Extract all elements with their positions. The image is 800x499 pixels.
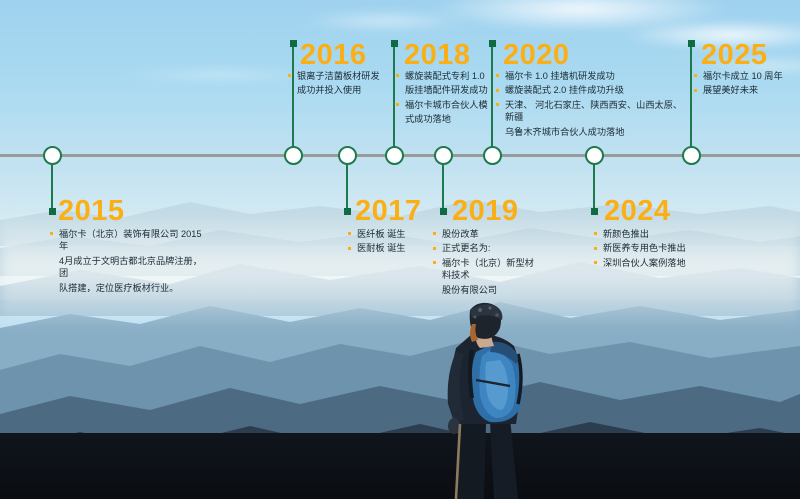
milestone-item: 福尔卡（北京）装饰有限公司 2015 年 bbox=[50, 228, 210, 253]
year-label-2025: 2025 bbox=[701, 40, 768, 70]
timeline-node-2018[interactable] bbox=[385, 146, 404, 165]
milestone-list-2024: 新颜色推出新医养专用色卡推出深圳合伙人案例落地 bbox=[594, 228, 724, 271]
milestone-item: 正式更名为: bbox=[433, 242, 538, 254]
timeline-node-2024[interactable] bbox=[585, 146, 604, 165]
year-label-2020: 2020 bbox=[503, 40, 570, 70]
milestone-item: 螺旋装配式 2.0 挂件成功升级 bbox=[496, 84, 686, 96]
timeline-stem-tip-2025 bbox=[688, 40, 695, 47]
timeline-stem-tip-2019 bbox=[440, 208, 447, 215]
milestone-item: 成功并投入使用 bbox=[288, 84, 388, 96]
milestone-list-2025: 福尔卡成立 10 周年展望美好未来 bbox=[694, 70, 794, 99]
timeline-stem-tip-2024 bbox=[591, 208, 598, 215]
milestone-item: 股份有限公司 bbox=[433, 284, 538, 296]
timeline-stem-2025 bbox=[690, 43, 692, 154]
bullet-list: 福尔卡（北京）装饰有限公司 2015 年4月成立于文明古都北京品牌注册，团队搭建… bbox=[50, 228, 210, 294]
bullet-list: 福尔卡 1.0 挂墙机研发成功螺旋装配式 2.0 挂件成功升级天津、 河北石家庄… bbox=[496, 70, 686, 138]
timeline-node-2016[interactable] bbox=[284, 146, 303, 165]
bullet-list: 医纤板 诞生医耐板 诞生 bbox=[348, 228, 438, 255]
timeline-stem-tip-2018 bbox=[391, 40, 398, 47]
year-label-2024: 2024 bbox=[604, 196, 671, 226]
milestone-item: 医纤板 诞生 bbox=[348, 228, 438, 240]
timeline-stem-tip-2017 bbox=[344, 208, 351, 215]
timeline-stem-2018 bbox=[393, 43, 395, 154]
bullet-list: 新颜色推出新医养专用色卡推出深圳合伙人案例落地 bbox=[594, 228, 724, 269]
bullet-list: 银离子洁菌板材研发成功并投入使用 bbox=[288, 70, 388, 97]
milestone-item: 深圳合伙人案例落地 bbox=[594, 257, 724, 269]
milestone-list-2017: 医纤板 诞生医耐板 诞生 bbox=[348, 228, 438, 257]
timeline-stem-tip-2020 bbox=[489, 40, 496, 47]
milestone-item: 4月成立于文明古都北京品牌注册，团 bbox=[50, 255, 210, 280]
milestone-item: 乌鲁木齐城市合伙人成功落地 bbox=[496, 126, 686, 138]
milestone-item: 福尔卡 1.0 挂墙机研发成功 bbox=[496, 70, 686, 82]
milestone-list-2018: 螺旋装配式专利 1.0版挂墙配件研发成功福尔卡城市合伙人模式成功落地 bbox=[396, 70, 492, 128]
milestone-list-2020: 福尔卡 1.0 挂墙机研发成功螺旋装配式 2.0 挂件成功升级天津、 河北石家庄… bbox=[496, 70, 686, 140]
bullet-list: 螺旋装配式专利 1.0版挂墙配件研发成功福尔卡城市合伙人模式成功落地 bbox=[396, 70, 492, 126]
milestone-item: 福尔卡城市合伙人模 bbox=[396, 99, 492, 111]
milestone-item: 队搭建，定位医疗板材行业。 bbox=[50, 282, 210, 294]
milestone-item: 螺旋装配式专利 1.0 bbox=[396, 70, 492, 82]
milestone-item: 版挂墙配件研发成功 bbox=[396, 84, 492, 96]
cloud-shape bbox=[300, 10, 470, 32]
timeline-node-2019[interactable] bbox=[434, 146, 453, 165]
milestone-item: 式成功落地 bbox=[396, 113, 492, 125]
year-label-2018: 2018 bbox=[404, 40, 471, 70]
milestone-item: 新颜色推出 bbox=[594, 228, 724, 240]
timeline-node-2017[interactable] bbox=[338, 146, 357, 165]
timeline-node-2025[interactable] bbox=[682, 146, 701, 165]
year-label-2015: 2015 bbox=[58, 196, 125, 226]
bullet-list: 股份改革正式更名为:福尔卡（北京）新型材料技术股份有限公司 bbox=[433, 228, 538, 296]
milestone-item: 新医养专用色卡推出 bbox=[594, 242, 724, 254]
year-label-2019: 2019 bbox=[452, 196, 519, 226]
hiker-figure bbox=[398, 300, 578, 499]
year-label-2017: 2017 bbox=[355, 196, 422, 226]
milestone-item: 股份改革 bbox=[433, 228, 538, 240]
milestone-list-2016: 银离子洁菌板材研发成功并投入使用 bbox=[288, 70, 388, 99]
timeline-infographic: 2015福尔卡（北京）装饰有限公司 2015 年4月成立于文明古都北京品牌注册，… bbox=[0, 0, 800, 499]
milestone-item: 福尔卡成立 10 周年 bbox=[694, 70, 794, 82]
milestone-item: 银离子洁菌板材研发 bbox=[288, 70, 388, 82]
timeline-stem-tip-2016 bbox=[290, 40, 297, 47]
milestone-item: 福尔卡（北京）新型材料技术 bbox=[433, 257, 538, 282]
milestone-list-2019: 股份改革正式更名为:福尔卡（北京）新型材料技术股份有限公司 bbox=[433, 228, 538, 298]
milestone-item: 医耐板 诞生 bbox=[348, 242, 438, 254]
year-label-2016: 2016 bbox=[300, 40, 367, 70]
bullet-list: 福尔卡成立 10 周年展望美好未来 bbox=[694, 70, 794, 97]
milestone-item: 展望美好未来 bbox=[694, 84, 794, 96]
timeline-node-2020[interactable] bbox=[483, 146, 502, 165]
milestone-list-2015: 福尔卡（北京）装饰有限公司 2015 年4月成立于文明古都北京品牌注册，团队搭建… bbox=[50, 228, 210, 296]
timeline-stem-tip-2015 bbox=[49, 208, 56, 215]
timeline-node-2015[interactable] bbox=[43, 146, 62, 165]
milestone-item: 天津、 河北石家庄、陕西西安、山西太原、新疆 bbox=[496, 99, 686, 124]
